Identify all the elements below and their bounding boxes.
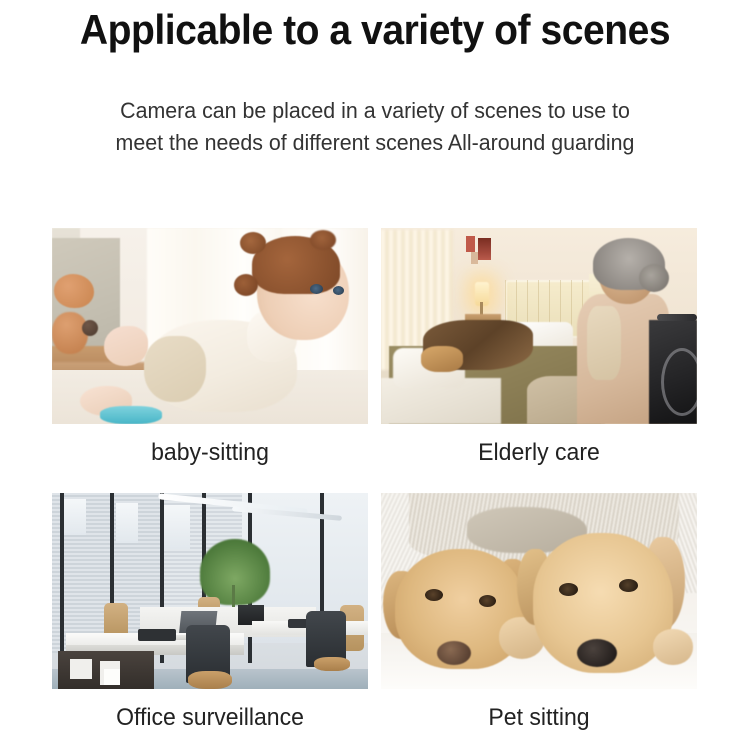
baby-eye-right (333, 286, 344, 295)
baby-ponytail-side (234, 274, 258, 296)
page-title: Applicable to a variety of scenes (26, 4, 724, 56)
scene-caption-baby-sitting: baby-sitting (58, 438, 361, 468)
keyboard-left (138, 629, 176, 641)
toy-ball (82, 320, 98, 336)
subtitle-line-1: Camera can be placed in a variety of sce… (43, 95, 708, 127)
puppy-paw-right (653, 629, 693, 665)
baby-ponytail-back (310, 230, 336, 250)
woman-hair-bun (639, 264, 669, 292)
office-plant (200, 539, 270, 605)
woman-scarf (587, 306, 621, 380)
wheelchair-wheel (661, 348, 697, 416)
puppy-right-eye-1 (559, 583, 578, 596)
subtitle-line-2: meet the needs of different scenes All-a… (43, 127, 708, 159)
window-pane-2 (116, 503, 138, 543)
scene-caption-elderly-care: Elderly care (387, 438, 690, 468)
window-pane-1 (64, 499, 86, 535)
cabinet-cube-3 (104, 669, 120, 685)
scene-caption-pet-sitting: Pet sitting (387, 703, 690, 733)
photo-office-surveillance (52, 493, 368, 689)
baby-ponytail-top (240, 232, 266, 254)
puppy-right-nose (577, 639, 617, 667)
window-mullion-1 (60, 493, 64, 663)
window-pane-3 (164, 505, 190, 549)
photo-pet-sitting (381, 493, 697, 689)
baby-sock (100, 406, 162, 424)
baby-leg (104, 326, 148, 366)
scene-card-baby-sitting[interactable]: baby-sitting (52, 228, 368, 468)
wheelchair-handle (657, 314, 697, 321)
puppy-left-nose (437, 641, 471, 665)
baby-eye-left (310, 284, 323, 294)
photo-elderly-care (381, 228, 697, 424)
cabinet-cube-1 (70, 659, 92, 679)
teddy-bear-head (54, 274, 94, 308)
promo-page: Applicable to a variety of scenes Camera… (0, 0, 750, 750)
photo-baby-sitting (52, 228, 368, 424)
wall-picture-2 (478, 238, 491, 260)
scene-card-office-surveillance[interactable]: Office surveillance (52, 493, 368, 733)
wall-picture-1 (466, 236, 475, 252)
scene-card-elderly-care[interactable]: Elderly care (381, 228, 697, 468)
puppy-left-eye-1 (425, 589, 443, 601)
wall-picture-3 (471, 252, 478, 264)
scene-caption-office-surveillance: Office surveillance (58, 703, 361, 733)
scene-card-pet-sitting[interactable]: Pet sitting (381, 493, 697, 733)
blanket-fold (421, 346, 463, 372)
chair-seat-2 (314, 657, 350, 671)
puppy-left-eye-2 (479, 595, 496, 607)
page-subtitle: Camera can be placed in a variety of sce… (43, 95, 708, 159)
puppy-right-eye-2 (619, 579, 638, 592)
window-mullion-6 (320, 493, 324, 613)
chair-seat-1 (188, 671, 232, 689)
baby-diaper (144, 336, 206, 402)
teddy-bear-body (52, 312, 88, 354)
scene-grid: baby-sitting (52, 228, 698, 683)
